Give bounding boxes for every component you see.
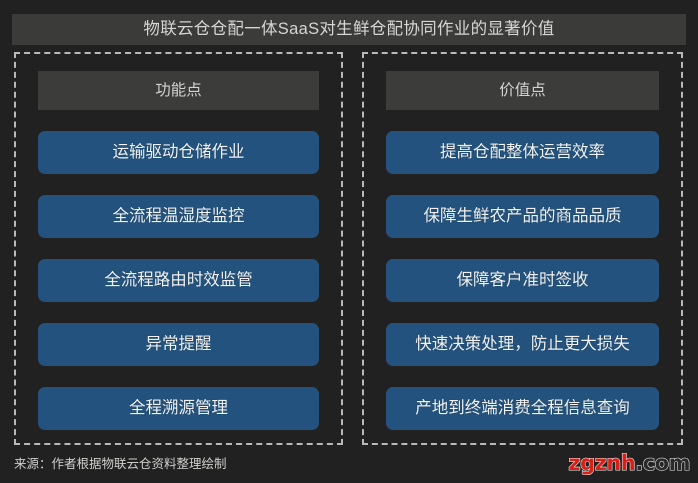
footer: 来源：作者根据物联云仓资料整理绘制 zgznh.com xyxy=(0,452,698,483)
column-inner: 功能点 运输驱动仓储作业 全流程温湿度监控 全流程路由时效监管 异常提醒 xyxy=(16,54,341,443)
list-item-label: 快速决策处理，防止更大损失 xyxy=(415,336,630,353)
list-item[interactable]: 保障客户准时签收 xyxy=(386,259,659,302)
list-item-label: 保障客户准时签收 xyxy=(457,272,589,289)
list-item[interactable]: 产地到终端消费全程信息查询 xyxy=(386,387,659,430)
column-value-points: 价值点 提高仓配整体运营效率 保障生鲜农产品的商品品质 保障客户准时签收 快速决… xyxy=(362,52,683,445)
list-item[interactable]: 全流程温湿度监控 xyxy=(38,195,319,238)
page-title: 物联云仓仓配一体SaaS对生鲜仓配协同作业的显著价值 xyxy=(143,21,554,38)
columns-container: 功能点 运输驱动仓储作业 全流程温湿度监控 全流程路由时效监管 异常提醒 xyxy=(14,52,684,445)
list-item[interactable]: 提高仓配整体运营效率 xyxy=(386,131,659,174)
list-item-label: 产地到终端消费全程信息查询 xyxy=(415,400,630,417)
watermark-tld: .com xyxy=(635,451,690,475)
list-item[interactable]: 保障生鲜农产品的商品品质 xyxy=(386,195,659,238)
column-function-points: 功能点 运输驱动仓储作业 全流程温湿度监控 全流程路由时效监管 异常提醒 xyxy=(14,52,343,445)
column-header-label: 功能点 xyxy=(155,83,202,99)
list-item-label: 全程溯源管理 xyxy=(129,400,228,417)
item-list-function-points: 运输驱动仓储作业 全流程温湿度监控 全流程路由时效监管 异常提醒 全程溯源管理 xyxy=(38,131,319,430)
list-item-label: 全流程路由时效监管 xyxy=(104,272,253,289)
list-item[interactable]: 异常提醒 xyxy=(38,323,319,366)
list-item-label: 运输驱动仓储作业 xyxy=(113,144,245,161)
item-list-value-points: 提高仓配整体运营效率 保障生鲜农产品的商品品质 保障客户准时签收 快速决策处理，… xyxy=(386,131,659,430)
column-header-label: 价值点 xyxy=(499,83,546,99)
infographic-page: 物联云仓仓配一体SaaS对生鲜仓配协同作业的显著价值 功能点 运输驱动仓储作业 … xyxy=(0,0,698,483)
column-inner: 价值点 提高仓配整体运营效率 保障生鲜农产品的商品品质 保障客户准时签收 快速决… xyxy=(364,54,681,443)
list-item[interactable]: 全流程路由时效监管 xyxy=(38,259,319,302)
page-title-bar: 物联云仓仓配一体SaaS对生鲜仓配协同作业的显著价值 xyxy=(12,14,686,45)
watermark: zgznh.com xyxy=(568,453,690,474)
column-header-value-points: 价值点 xyxy=(386,71,659,110)
column-header-function-points: 功能点 xyxy=(38,71,319,110)
list-item[interactable]: 全程溯源管理 xyxy=(38,387,319,430)
watermark-main: zgznh xyxy=(568,451,635,475)
list-item-label: 异常提醒 xyxy=(146,336,212,353)
list-item-label: 提高仓配整体运营效率 xyxy=(440,144,605,161)
list-item[interactable]: 运输驱动仓储作业 xyxy=(38,131,319,174)
source-note: 来源：作者根据物联云仓资料整理绘制 xyxy=(14,458,227,471)
list-item[interactable]: 快速决策处理，防止更大损失 xyxy=(386,323,659,366)
list-item-label: 全流程温湿度监控 xyxy=(113,208,245,225)
list-item-label: 保障生鲜农产品的商品品质 xyxy=(424,208,622,225)
